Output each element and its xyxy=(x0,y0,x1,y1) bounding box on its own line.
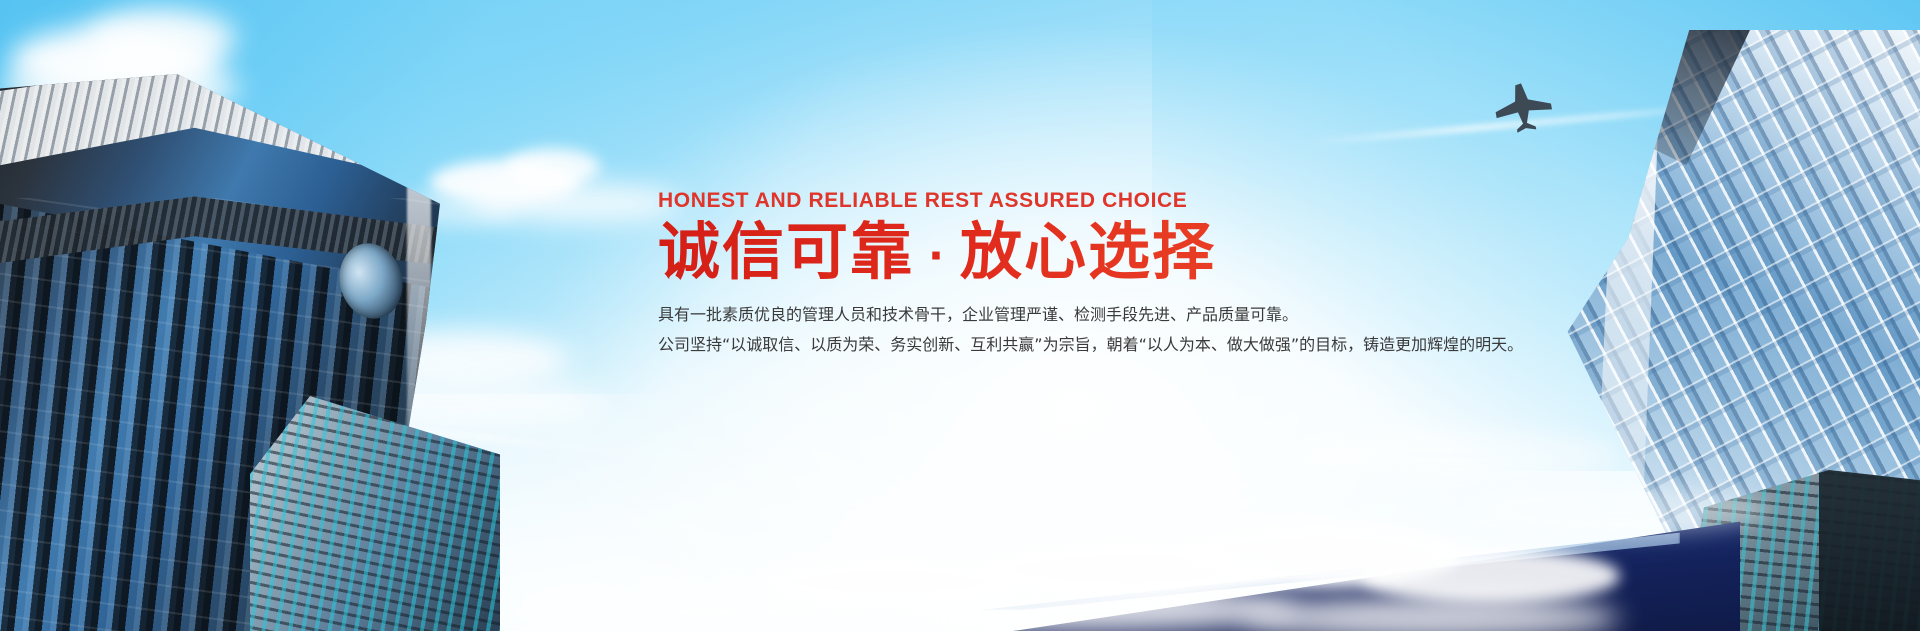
cloud xyxy=(880,586,1300,632)
cloud xyxy=(1240,596,1620,636)
banner-headline: 诚信可靠·放心选择 xyxy=(658,218,1658,286)
cloud xyxy=(620,592,880,632)
headline-separator: · xyxy=(914,231,960,280)
banner-body-line-1: 具有一批素质优良的管理人员和技术骨干，企业管理严谨、检测手段先进、产品质量可靠。 xyxy=(658,300,1658,330)
cloud xyxy=(1470,486,1770,534)
bottom-edge xyxy=(0,631,1920,636)
banner-eyebrow: HONEST AND RELIABLE REST ASSURED CHOICE xyxy=(658,188,1658,214)
headline-left-part: 诚信可靠 xyxy=(658,215,914,288)
banner-body-line-2: 公司坚持“以诚取信、以质为荣、务实创新、互利共赢”为宗旨，朝着“以人为本、做大做… xyxy=(658,330,1658,360)
cloud xyxy=(505,148,600,186)
headline-right-part: 放心选择 xyxy=(960,215,1216,288)
banner-copy: HONEST AND RELIABLE REST ASSURED CHOICE … xyxy=(658,188,1658,360)
cloud xyxy=(86,8,236,68)
right-secondary-building-shadow xyxy=(1819,470,1920,636)
cloud xyxy=(1300,430,1620,480)
hero-banner: HONEST AND RELIABLE REST ASSURED CHOICE … xyxy=(0,0,1920,636)
